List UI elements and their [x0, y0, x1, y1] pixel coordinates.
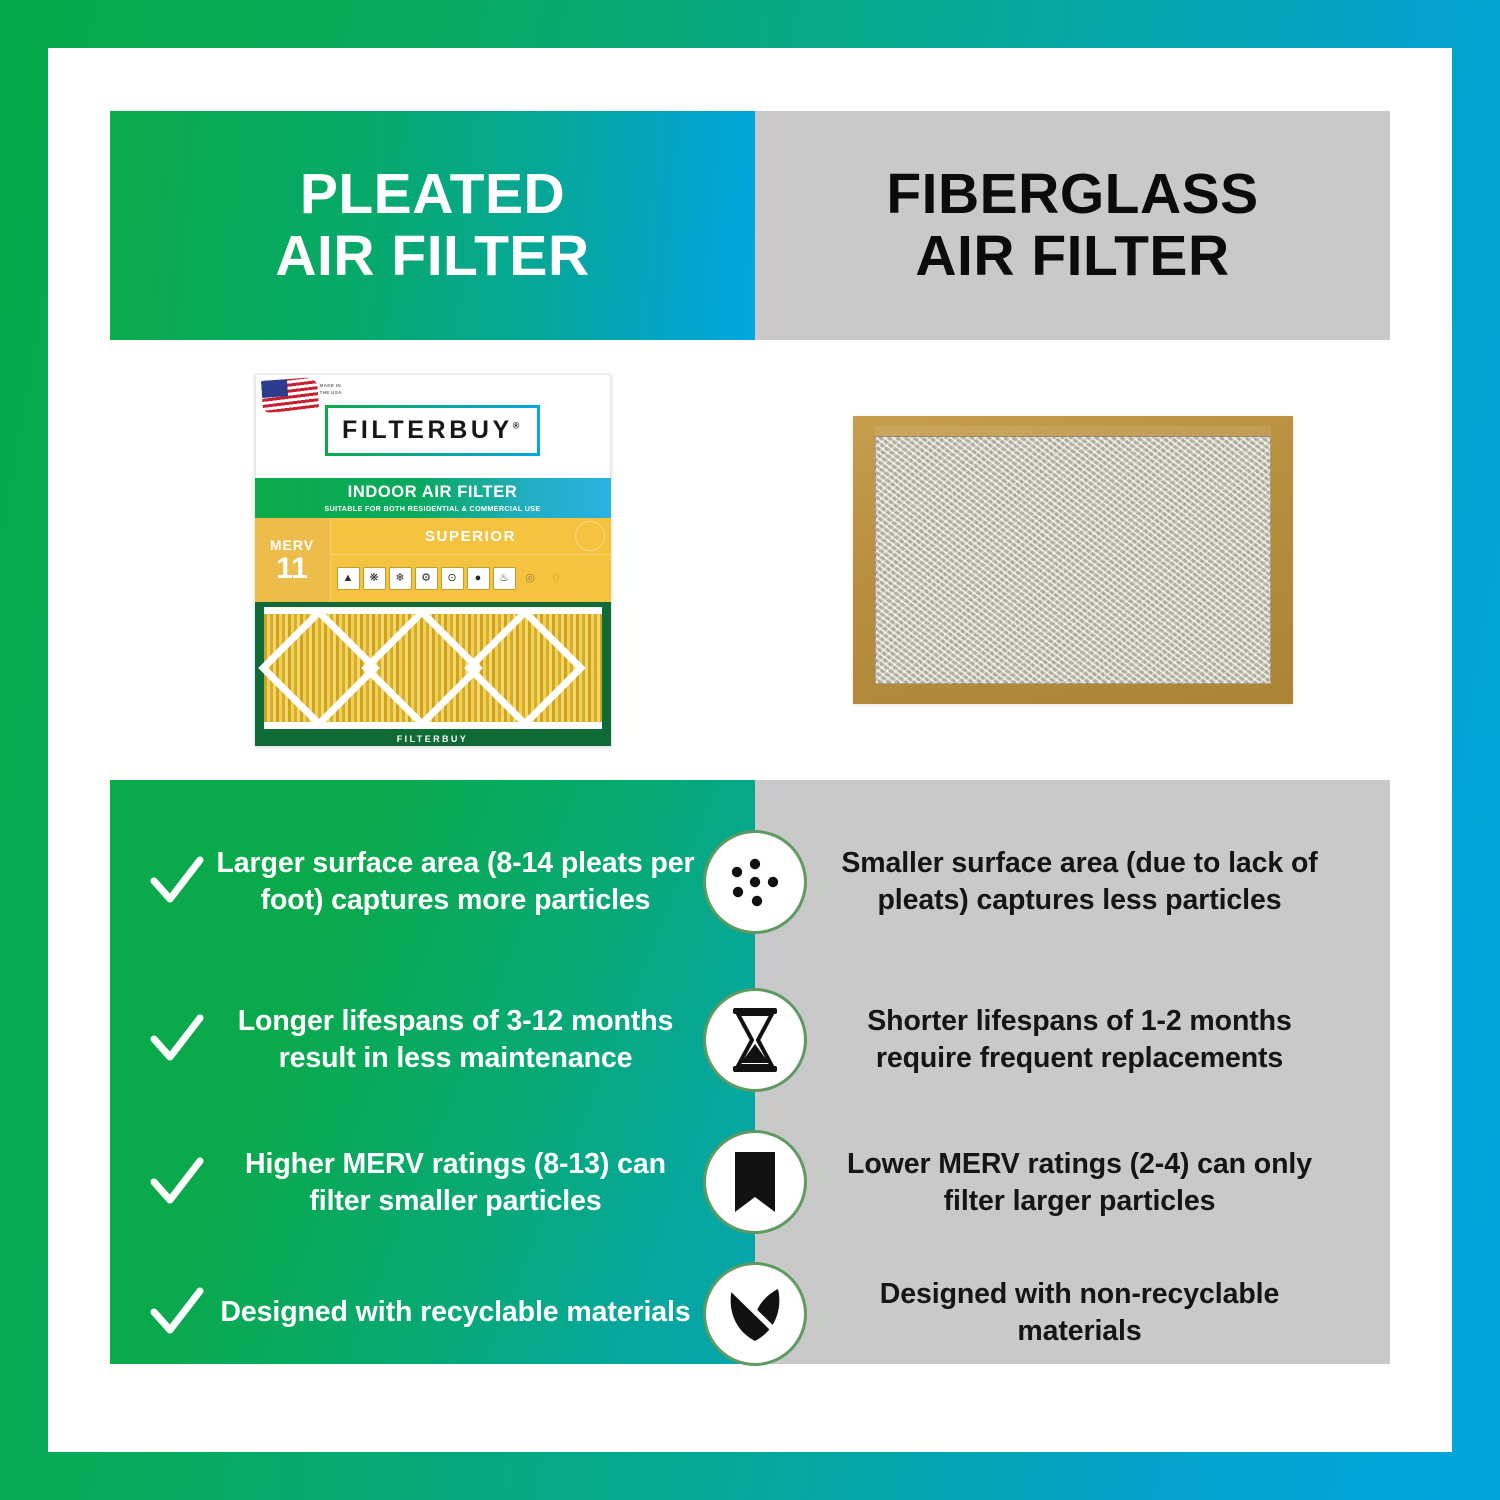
merv-value: 11	[276, 554, 308, 584]
merv-band: MERV 11 SUPERIOR ▲ ❋ ❄ ⚙ ⊙	[255, 518, 611, 602]
grid-diamond	[464, 607, 586, 729]
row-left-text: Larger surface area (8-14 pleats per foo…	[214, 845, 697, 919]
band-title: INDOOR AIR FILTER	[348, 483, 518, 502]
mite-icon: ❋	[363, 567, 386, 590]
header-pleated-line1: PLEATED	[275, 164, 589, 226]
faded-icon-2: ♢	[545, 567, 568, 590]
feature-icon-row: ▲ ❋ ❄ ⚙ ⊙ ● ♨ ◎ ♢	[331, 555, 611, 602]
tier-label-row: SUPERIOR	[331, 518, 611, 555]
faded-icon-1: ◎	[519, 567, 542, 590]
checkmark-icon	[146, 1152, 208, 1214]
particles-icon	[719, 846, 791, 918]
bookmark-icon-badge	[703, 1130, 807, 1234]
checkmark-icon	[146, 851, 208, 913]
trademark-symbol: ®	[513, 421, 523, 431]
merv-block: MERV 11	[255, 518, 331, 602]
leaf-icon-badge	[703, 1262, 807, 1366]
row-left-text: Higher MERV ratings (8-13) can filter sm…	[214, 1146, 697, 1220]
header-fiberglass-title: FIBERGLASS AIR FILTER	[886, 164, 1258, 287]
band-subtitle: SUITABLE FOR BOTH RESIDENTIAL & COMMERCI…	[324, 504, 540, 513]
row-right-cell: Shorter lifespans of 1-2 months require …	[755, 1003, 1390, 1077]
pleated-media-section: FILTERBUY	[255, 602, 611, 746]
header-row: PLEATED AIR FILTER FIBERGLASS AIR FILTER	[110, 111, 1390, 340]
header-pleated-title: PLEATED AIR FILTER	[275, 164, 589, 287]
filterbuy-logo: FILTERBUY®	[325, 405, 540, 456]
fiberglass-filter-product-image	[853, 416, 1293, 704]
header-fiberglass-line2: AIR FILTER	[886, 226, 1258, 288]
bookmark-icon	[731, 1149, 779, 1215]
header-fiberglass-line1: FIBERGLASS	[886, 164, 1258, 226]
row-right-text: Smaller surface area (due to lack of ple…	[825, 845, 1334, 919]
row-left-cell: Higher MERV ratings (8-13) can filter sm…	[110, 1146, 755, 1220]
hourglass-icon	[727, 1006, 783, 1074]
row-right-cell: Smaller surface area (due to lack of ple…	[755, 845, 1390, 919]
filter-footer-brand: FILTERBUY	[255, 734, 611, 744]
row-left-text: Longer lifespans of 3-12 months result i…	[214, 1003, 697, 1077]
row-right-text: Shorter lifespans of 1-2 months require …	[825, 1003, 1334, 1077]
row-left-cell: Longer lifespans of 3-12 months result i…	[110, 1003, 755, 1077]
row-left-cell: Larger surface area (8-14 pleats per foo…	[110, 845, 755, 919]
tier-label: SUPERIOR	[425, 528, 516, 545]
row-right-text: Lower MERV ratings (2-4) can only filter…	[825, 1146, 1334, 1220]
row-right-text: Designed with non-recyclable materials	[825, 1276, 1334, 1350]
pet-dander-icon: ●	[467, 567, 490, 590]
checkmark-icon	[146, 1282, 208, 1344]
tier-and-icons: SUPERIOR ▲ ❋ ❄ ⚙ ⊙ ● ♨ ◎ ♢	[331, 518, 611, 602]
particles-icon-badge	[703, 830, 807, 934]
header-fiberglass: FIBERGLASS AIR FILTER	[755, 111, 1390, 340]
leaf-icon	[722, 1283, 788, 1345]
dust-icon: ▲	[337, 567, 360, 590]
pleated-product-cell: MADE IN THE USA FILTERBUY® INDOOR AIR FI…	[110, 340, 755, 780]
fiberglass-media-texture	[875, 436, 1271, 684]
filter-box-top: MADE IN THE USA FILTERBUY®	[255, 374, 611, 478]
header-pleated-line2: AIR FILTER	[275, 226, 589, 288]
row-right-cell: Designed with non-recyclable materials	[755, 1276, 1390, 1350]
made-in-line2: THE USA	[320, 390, 342, 397]
product-image-band: MADE IN THE USA FILTERBUY® INDOOR AIR FI…	[110, 340, 1390, 780]
row-right-cell: Lower MERV ratings (2-4) can only filter…	[755, 1146, 1390, 1220]
row-left-text: Designed with recyclable materials	[214, 1294, 697, 1331]
hourglass-icon-badge	[703, 988, 807, 1092]
indoor-air-filter-band: INDOOR AIR FILTER SUITABLE FOR BOTH RESI…	[255, 478, 611, 518]
made-in-line1: MADE IN	[320, 383, 342, 390]
merv-label: MERV	[270, 537, 314, 553]
bacteria-icon: ⊙	[441, 567, 464, 590]
smoke-icon: ♨	[493, 567, 516, 590]
ul-certification-icon	[575, 521, 605, 551]
header-pleated: PLEATED AIR FILTER	[110, 111, 755, 340]
comparison-table: Larger surface area (8-14 pleats per foo…	[110, 780, 1390, 1364]
usa-flag-icon	[260, 377, 318, 413]
row-left-cell: Designed with recyclable materials	[110, 1282, 755, 1344]
comparison-infographic: PLEATED AIR FILTER FIBERGLASS AIR FILTER…	[0, 0, 1500, 1500]
pleated-filter-product-image: MADE IN THE USA FILTERBUY® INDOOR AIR FI…	[255, 374, 611, 746]
pollen-icon: ❄	[389, 567, 412, 590]
spore-icon: ⚙	[415, 567, 438, 590]
fiberglass-product-cell	[755, 340, 1390, 780]
checkmark-icon	[146, 1009, 208, 1071]
made-in-usa-label: MADE IN THE USA	[320, 383, 342, 396]
filterbuy-wordmark: FILTERBUY	[342, 416, 513, 444]
wire-support-grid	[264, 607, 602, 729]
